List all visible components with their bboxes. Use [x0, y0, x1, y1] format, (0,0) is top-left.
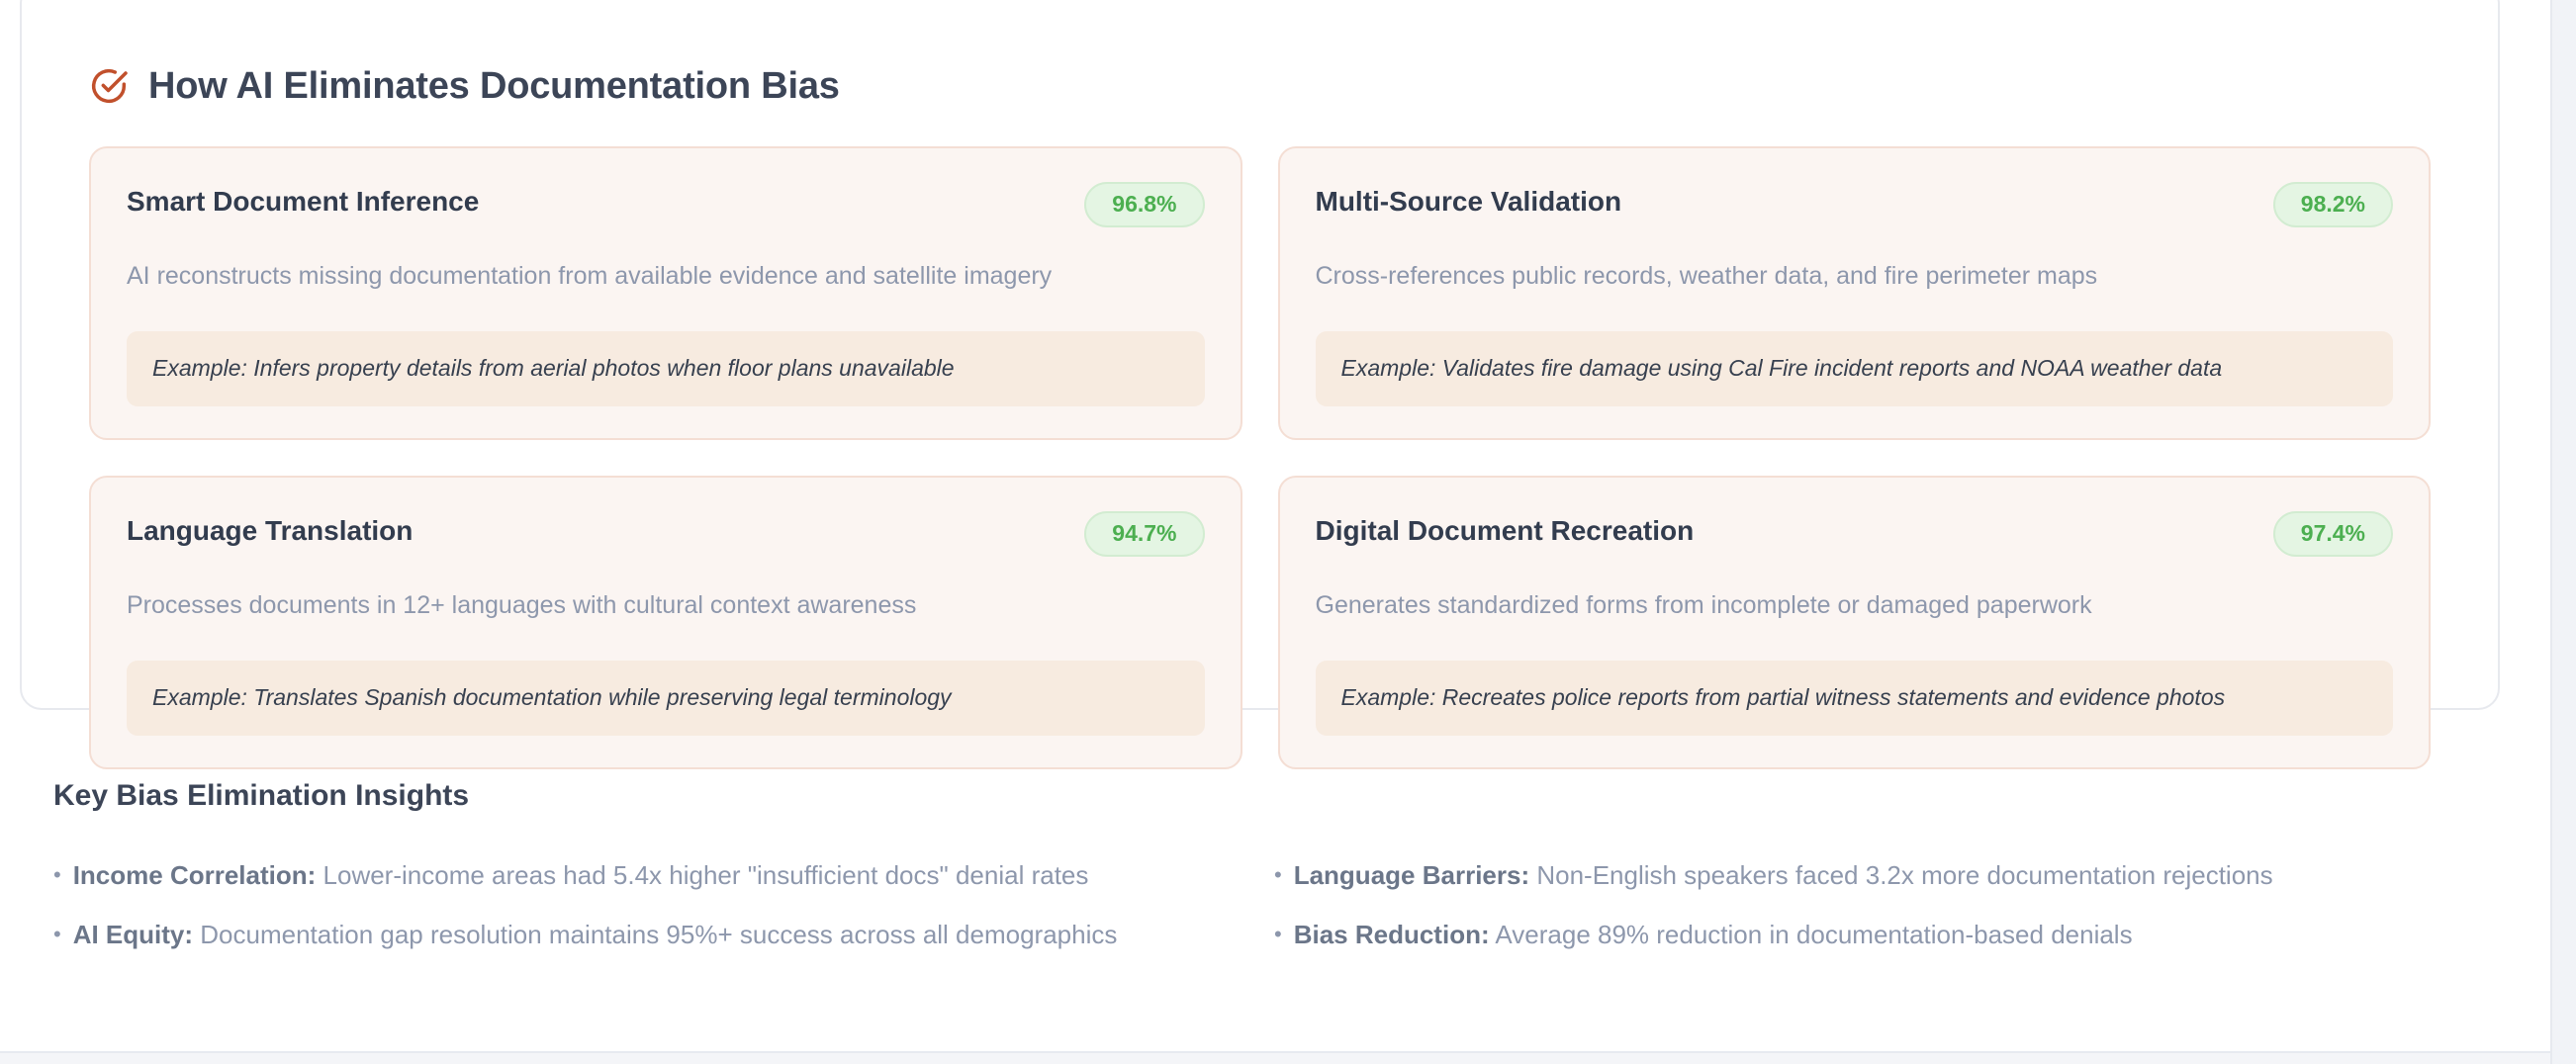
feature-card-grid: Smart Document Inference 96.8% AI recons… [71, 121, 2448, 769]
feature-card[interactable]: Digital Document Recreation 97.4% Genera… [1278, 476, 2432, 769]
insight-item: • AI Equity: Documentation gap resolutio… [51, 906, 1225, 965]
bullet-icon: • [53, 864, 61, 886]
insight-text: Lower-income areas had 5.4x higher "insu… [316, 860, 1088, 890]
feature-card-title: Language Translation [127, 511, 413, 548]
insight-label: Income Correlation: [73, 860, 317, 890]
insight-text: Average 89% reduction in documentation-b… [1490, 920, 2133, 949]
insight-body: Language Barriers: Non-English speakers … [1294, 859, 2273, 893]
feature-card-header: Smart Document Inference 96.8% [127, 182, 1205, 227]
feature-card[interactable]: Multi-Source Validation 98.2% Cross-refe… [1278, 146, 2432, 440]
feature-card-header: Multi-Source Validation 98.2% [1316, 182, 2394, 227]
feature-card-example: Example: Translates Spanish documentatio… [127, 661, 1205, 736]
documentation-bias-panel: How AI Eliminates Documentation Bias Sma… [20, 0, 2500, 710]
feature-card-title: Digital Document Recreation [1316, 511, 1695, 548]
feature-card-title: Multi-Source Validation [1316, 182, 1622, 219]
feature-card[interactable]: Language Translation 94.7% Processes doc… [89, 476, 1242, 769]
feature-card-header: Language Translation 94.7% [127, 511, 1205, 557]
insights-heading: Key Bias Elimination Insights [51, 781, 2445, 811]
feature-card-header: Digital Document Recreation 97.4% [1316, 511, 2394, 557]
insight-item: • Language Barriers: Non-English speaker… [1272, 846, 2445, 906]
accuracy-badge: 98.2% [2273, 182, 2393, 227]
accuracy-badge: 94.7% [1084, 511, 1204, 557]
insight-body: Bias Reduction: Average 89% reduction in… [1294, 919, 2133, 952]
page-scrollbar-gutter[interactable] [2550, 0, 2576, 1064]
feature-card-title: Smart Document Inference [127, 182, 479, 219]
page-root: How AI Eliminates Documentation Bias Sma… [0, 0, 2576, 1064]
panel-header: How AI Eliminates Documentation Bias [71, 30, 2448, 121]
bullet-icon: • [53, 924, 61, 945]
bottom-strip [0, 1053, 2550, 1064]
feature-card-description: AI reconstructs missing documentation fr… [127, 227, 1205, 294]
insight-text: Documentation gap resolution maintains 9… [193, 920, 1117, 949]
feature-card-example: Example: Validates fire damage using Cal… [1316, 331, 2394, 406]
bullet-icon: • [1274, 924, 1282, 945]
feature-card[interactable]: Smart Document Inference 96.8% AI recons… [89, 146, 1242, 440]
accuracy-badge: 97.4% [2273, 511, 2393, 557]
feature-card-description: Cross-references public records, weather… [1316, 227, 2394, 294]
accuracy-badge: 96.8% [1084, 182, 1204, 227]
feature-card-example: Example: Infers property details from ae… [127, 331, 1205, 406]
key-insights-section: Key Bias Elimination Insights • Income C… [51, 781, 2445, 965]
feature-card-description: Processes documents in 12+ languages wit… [127, 557, 1205, 623]
insight-label: AI Equity: [73, 920, 193, 949]
insight-label: Language Barriers: [1294, 860, 1529, 890]
content-column: How AI Eliminates Documentation Bias Sma… [0, 0, 2550, 1064]
insight-body: Income Correlation: Lower-income areas h… [73, 859, 1089, 893]
insight-item: • Bias Reduction: Average 89% reduction … [1272, 906, 2445, 965]
check-circle-icon [89, 66, 129, 106]
insight-body: AI Equity: Documentation gap resolution … [73, 919, 1118, 952]
bullet-icon: • [1274, 864, 1282, 886]
insight-item: • Income Correlation: Lower-income areas… [51, 846, 1225, 906]
insight-text: Non-English speakers faced 3.2x more doc… [1529, 860, 2273, 890]
page-title: How AI Eliminates Documentation Bias [148, 67, 840, 105]
feature-card-example: Example: Recreates police reports from p… [1316, 661, 2394, 736]
insight-label: Bias Reduction: [1294, 920, 1490, 949]
feature-card-description: Generates standardized forms from incomp… [1316, 557, 2394, 623]
insights-grid: • Income Correlation: Lower-income areas… [51, 811, 2445, 965]
